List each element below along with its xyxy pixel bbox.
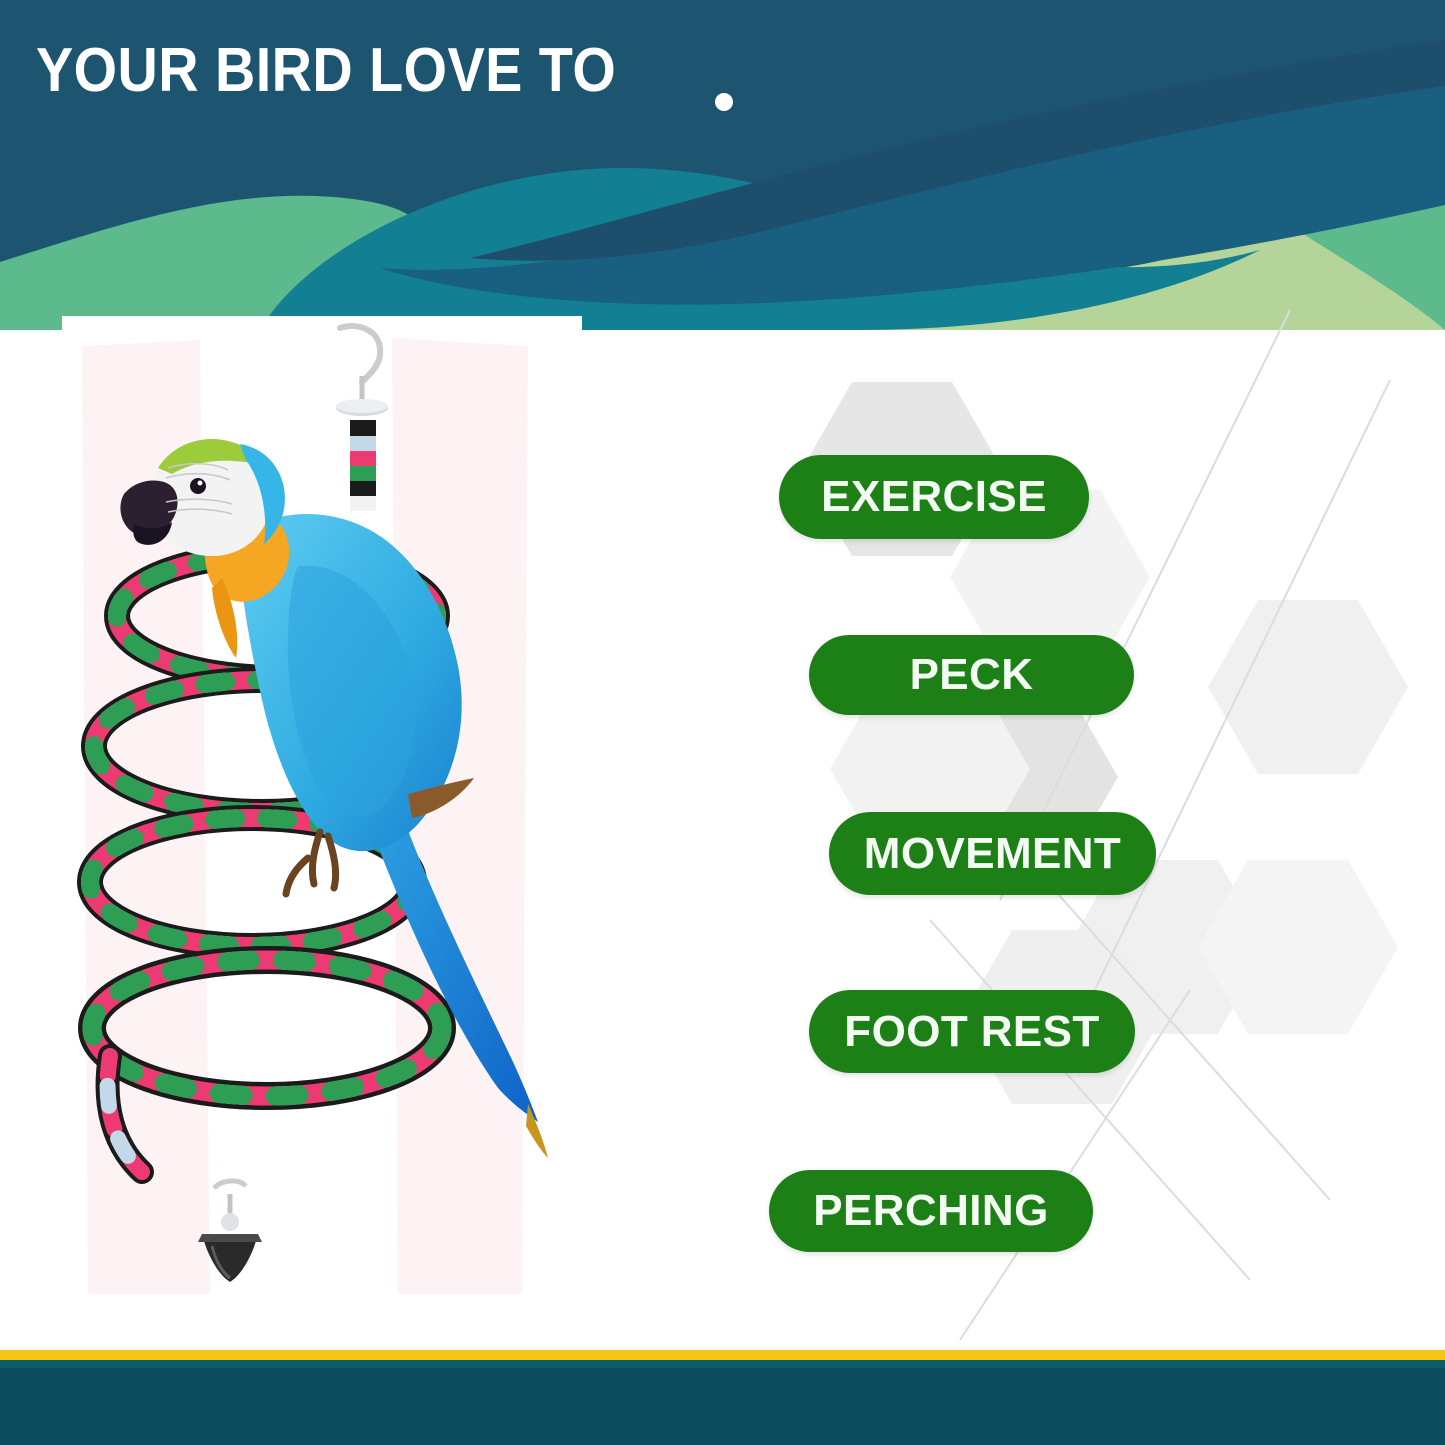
benefit-badge-movement[interactable]: MOVEMENT [829,812,1156,895]
page-title: YOUR BIRD LOVE TO [36,38,616,103]
hexagon-icon [1208,600,1408,774]
parrot-eye-glint [198,481,203,486]
benefit-badge-foot-rest[interactable]: FOOT REST [809,990,1135,1073]
benefit-badge-label: PECK [910,653,1034,697]
infographic-page: YOUR BIRD LOVE TO [0,0,1445,1445]
header-banner: YOUR BIRD LOVE TO [0,0,1445,330]
benefit-badge-label: MOVEMENT [864,832,1121,876]
benefit-badge-peck[interactable]: PECK [809,635,1134,715]
footer-accent-rule [0,1350,1445,1360]
product-image-panel [62,316,582,1296]
footer-bar-top-accent [0,1360,1445,1368]
rope-top-segment [350,420,376,511]
benefit-badge-exercise[interactable]: EXERCISE [779,455,1089,539]
benefit-badge-label: PERCHING [813,1189,1048,1233]
diagonal-line [1090,380,1390,1000]
hexagon-icon [1198,860,1398,1034]
header-dot-artifact [715,93,733,111]
benefit-badge-label: FOOT REST [844,1010,1099,1054]
benefit-badge-label: EXERCISE [821,475,1047,519]
footer-bar [0,1360,1445,1445]
parrot-eye [190,478,206,494]
benefit-badge-perching[interactable]: PERCHING [769,1170,1093,1252]
spiral-rope-perch-illustration [62,316,582,1296]
